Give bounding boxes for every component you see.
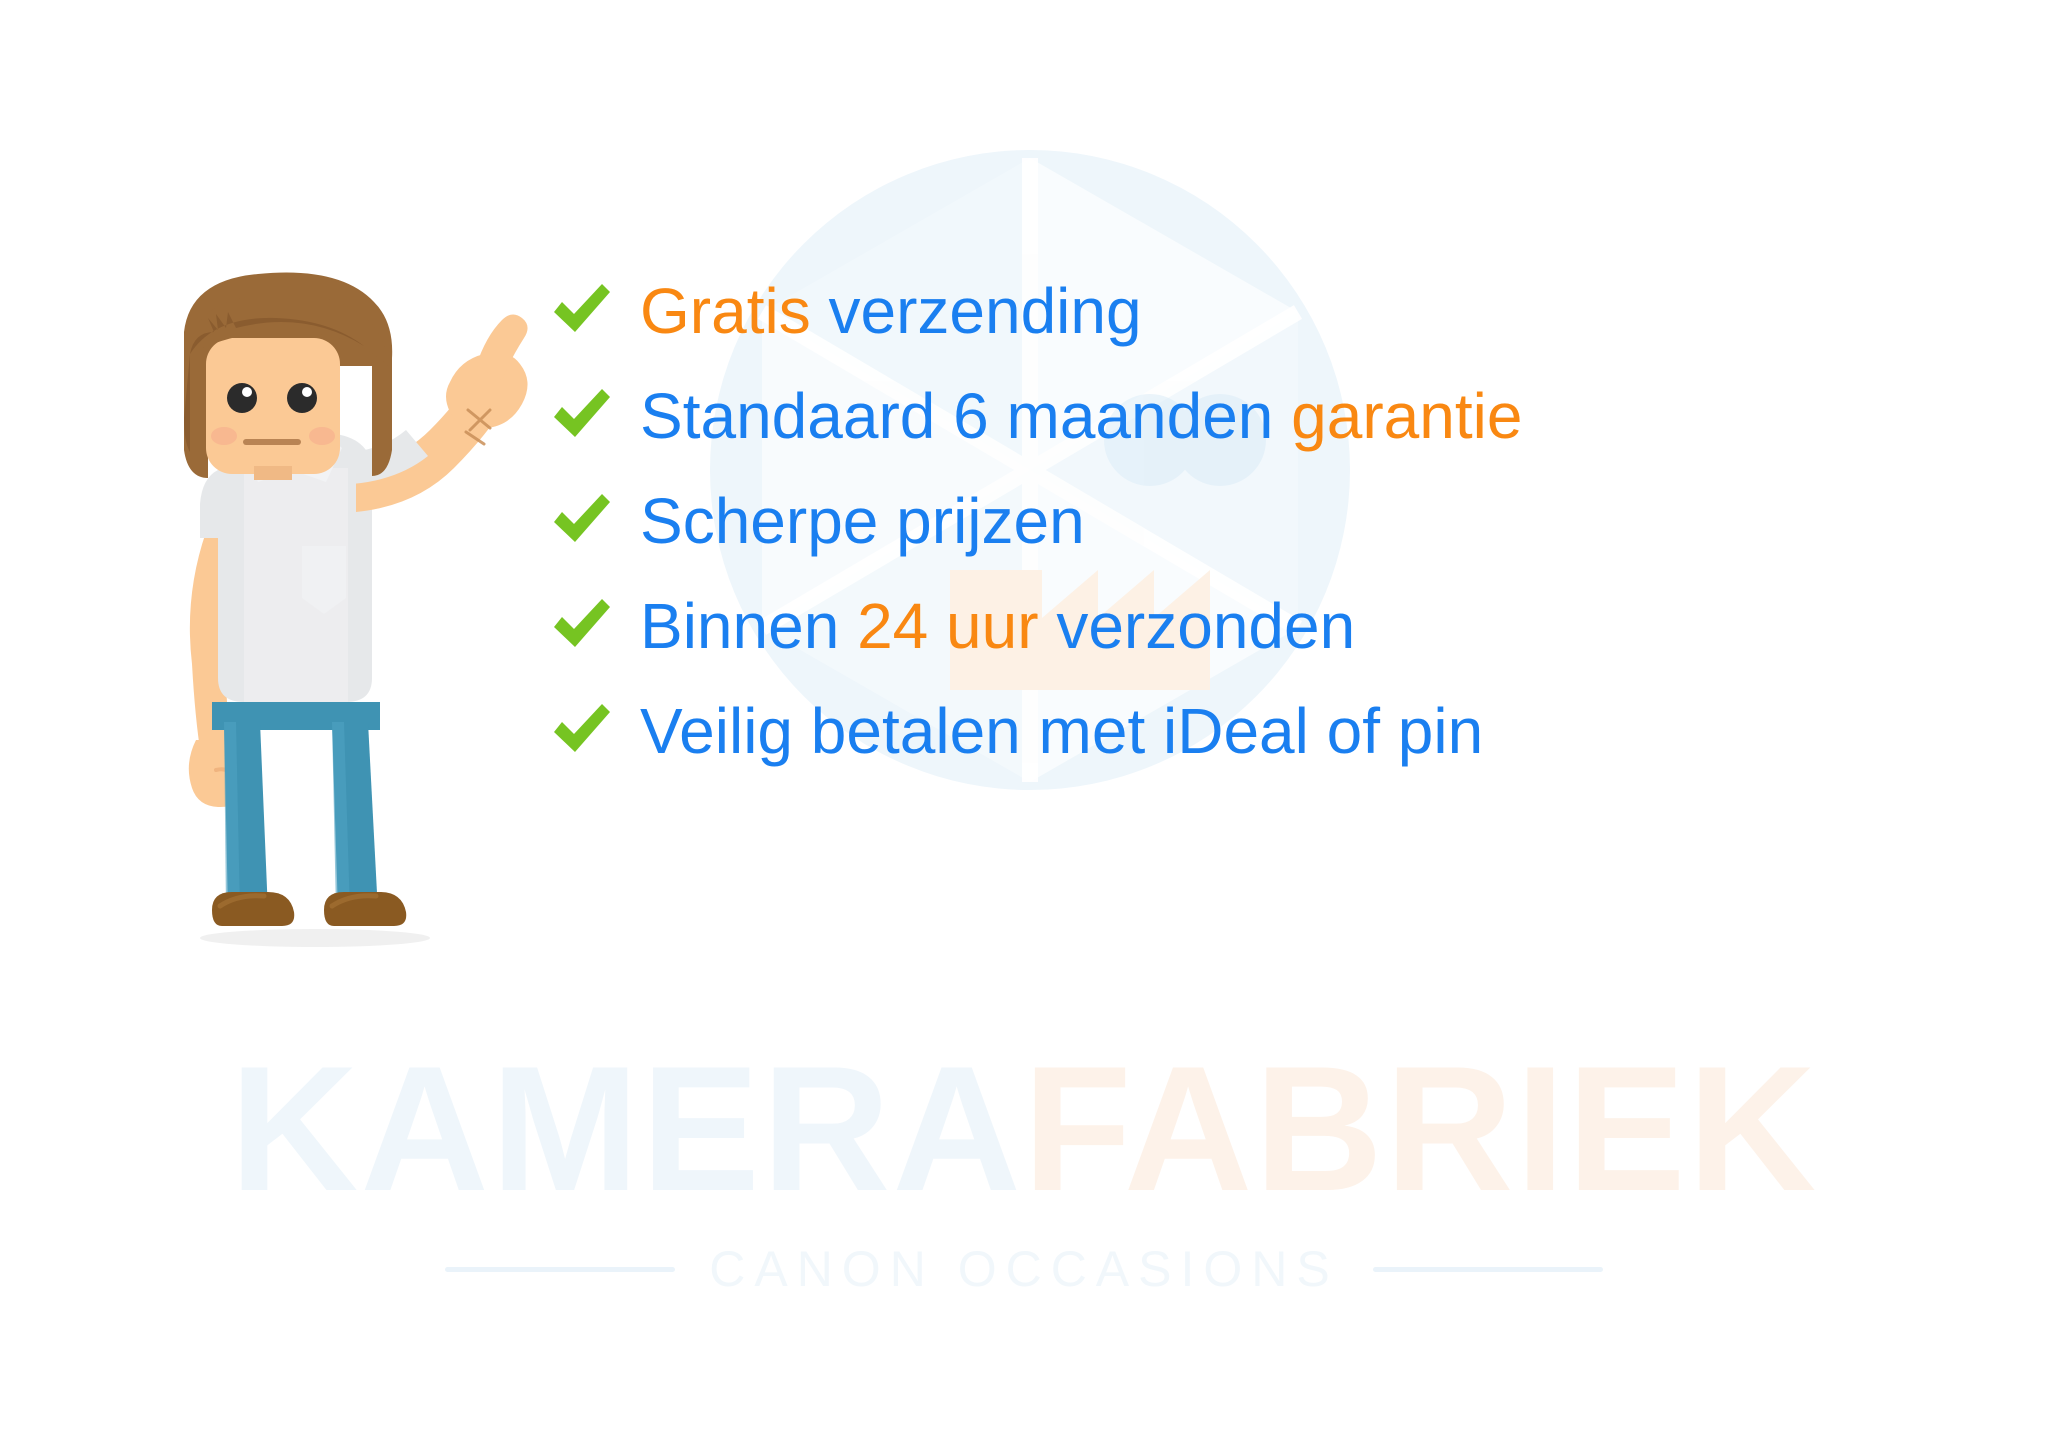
benefit-label-3: Binnen 24 uur verzonden bbox=[640, 594, 1355, 658]
benefit-segment: Standaard 6 maanden bbox=[640, 380, 1291, 452]
brand-tagline-row: CANON OCCASIONS bbox=[0, 1240, 2048, 1298]
check-icon bbox=[548, 383, 614, 449]
benefit-label-2: Scherpe prijzen bbox=[640, 489, 1085, 553]
list-item: Binnen 24 uur verzonden bbox=[548, 573, 1968, 678]
brand-tagline: CANON OCCASIONS bbox=[709, 1240, 1339, 1298]
benefit-label-4: Veilig betalen met iDeal of pin bbox=[640, 699, 1483, 763]
list-item: Veilig betalen met iDeal of pin bbox=[548, 678, 1968, 783]
check-icon bbox=[548, 278, 614, 344]
list-item: Standaard 6 maanden garantie bbox=[548, 363, 1968, 468]
brand-watermark: KAMERAFABRIEK CANON OCCASIONS bbox=[0, 1040, 2048, 1298]
list-item: Gratis verzending bbox=[548, 258, 1968, 363]
benefit-segment: verzonden bbox=[1056, 590, 1355, 662]
divider-left bbox=[445, 1267, 675, 1272]
benefit-segment: 24 uur bbox=[857, 590, 1056, 662]
check-icon bbox=[548, 698, 614, 764]
benefit-segment: Scherpe prijzen bbox=[640, 485, 1085, 557]
benefit-segment: garantie bbox=[1291, 380, 1522, 452]
benefits-list: Gratis verzending Standaard 6 maanden ga… bbox=[548, 258, 1968, 783]
benefit-segment: Binnen bbox=[640, 590, 857, 662]
brand-name-part-1: KAMERA bbox=[230, 1029, 1023, 1228]
benefit-segment: Gratis bbox=[640, 275, 828, 347]
benefit-segment: verzending bbox=[828, 275, 1141, 347]
check-icon bbox=[548, 593, 614, 659]
benefit-label-1: Standaard 6 maanden garantie bbox=[640, 384, 1522, 448]
list-item: Scherpe prijzen bbox=[548, 468, 1968, 573]
pointing-man-character bbox=[150, 270, 570, 970]
check-icon bbox=[548, 488, 614, 554]
divider-right bbox=[1373, 1267, 1603, 1272]
brand-name: KAMERAFABRIEK bbox=[0, 1040, 2048, 1218]
brand-name-part-2: FABRIEK bbox=[1023, 1029, 1818, 1228]
benefit-segment: Veilig betalen met iDeal of pin bbox=[640, 695, 1483, 767]
promo-banner: Gratis verzending Standaard 6 maanden ga… bbox=[0, 0, 2048, 1444]
benefit-label-0: Gratis verzending bbox=[640, 279, 1142, 343]
